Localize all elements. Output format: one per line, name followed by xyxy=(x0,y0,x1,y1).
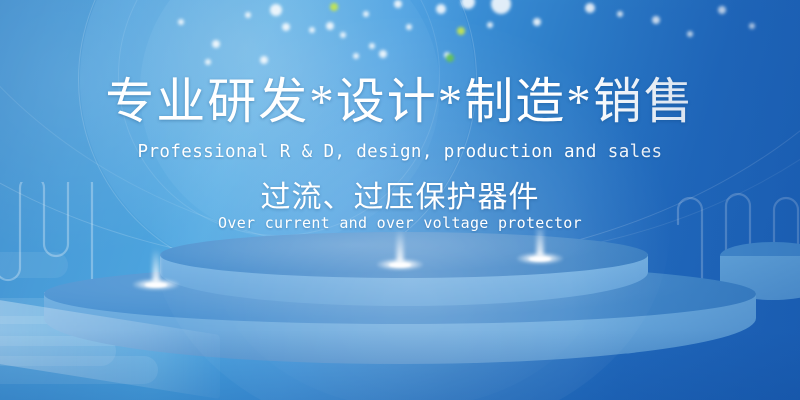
sparkle-particle xyxy=(406,24,412,30)
page-title: 专业研发*设计*制造*销售 xyxy=(0,74,800,130)
sparkle-particle xyxy=(282,23,290,31)
sparkle-particle xyxy=(309,27,315,33)
sparkle-particle xyxy=(178,19,184,25)
sparkle-particle xyxy=(533,18,541,26)
promo-banner: 专业研发*设计*制造*销售 Professional R & D, design… xyxy=(0,0,800,400)
sparkle-particle xyxy=(457,27,465,35)
sparkle-particle xyxy=(617,11,623,17)
sparkle-particle xyxy=(687,31,693,37)
sparkle-particle xyxy=(652,16,660,24)
page-subtitle-english: Over current and over voltage protector xyxy=(0,212,800,234)
sparkle-particle xyxy=(379,50,387,58)
sparkle-particle xyxy=(749,23,755,29)
podium-upper-shade xyxy=(160,232,648,278)
sparkle-particle xyxy=(245,12,251,18)
sparkle-particle xyxy=(585,3,595,13)
sparkle-particle xyxy=(353,53,359,59)
page-title-english: Professional R & D, design, production a… xyxy=(0,140,800,164)
sparkle-particle xyxy=(270,4,282,16)
sparkle-particle xyxy=(394,0,402,8)
sparkle-particle xyxy=(363,11,369,17)
sparkle-particle xyxy=(718,6,726,14)
sparkle-particle xyxy=(436,4,446,14)
page-subtitle: 过流、过压保护器件 xyxy=(0,180,800,216)
sparkle-particle xyxy=(260,56,268,64)
sparkle-particle xyxy=(205,59,211,65)
sparkle-particle xyxy=(446,54,454,62)
sparkle-particle xyxy=(340,32,346,38)
sparkle-particle xyxy=(212,40,220,48)
sparkle-particle xyxy=(487,22,493,28)
sparkle-particle xyxy=(326,22,334,30)
sparkle-particle xyxy=(369,43,375,49)
sparkle-particle xyxy=(330,3,338,11)
